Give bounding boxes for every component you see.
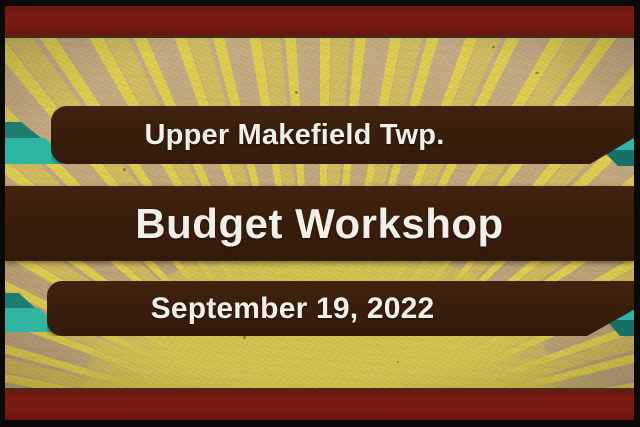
- slide-stage: Upper Makefield Twp. Budget Workshop Sep…: [5, 6, 634, 420]
- slide-date: September 19, 2022: [47, 292, 634, 326]
- title-banner: Budget Workshop: [5, 186, 634, 261]
- paper-speck: [535, 72, 539, 74]
- paper-speck: [397, 361, 399, 363]
- red-footer-band: [5, 388, 634, 420]
- red-header-band: [5, 6, 634, 38]
- frame-edge-left: [0, 0, 5, 427]
- organization-name: Upper Makefield Twp.: [51, 119, 634, 152]
- paper-speck: [295, 91, 298, 94]
- paper-speck: [123, 168, 126, 171]
- frame-edge-bottom: [0, 420, 640, 427]
- organization-banner: Upper Makefield Twp.: [51, 106, 634, 164]
- date-banner: September 19, 2022: [47, 281, 634, 336]
- frame-edge-top: [0, 0, 640, 6]
- video-slide-frame: Upper Makefield Twp. Budget Workshop Sep…: [0, 0, 640, 427]
- slide-title: Budget Workshop: [5, 200, 634, 248]
- frame-edge-right: [634, 0, 640, 427]
- paper-speck: [492, 46, 495, 48]
- paper-speck: [243, 336, 246, 339]
